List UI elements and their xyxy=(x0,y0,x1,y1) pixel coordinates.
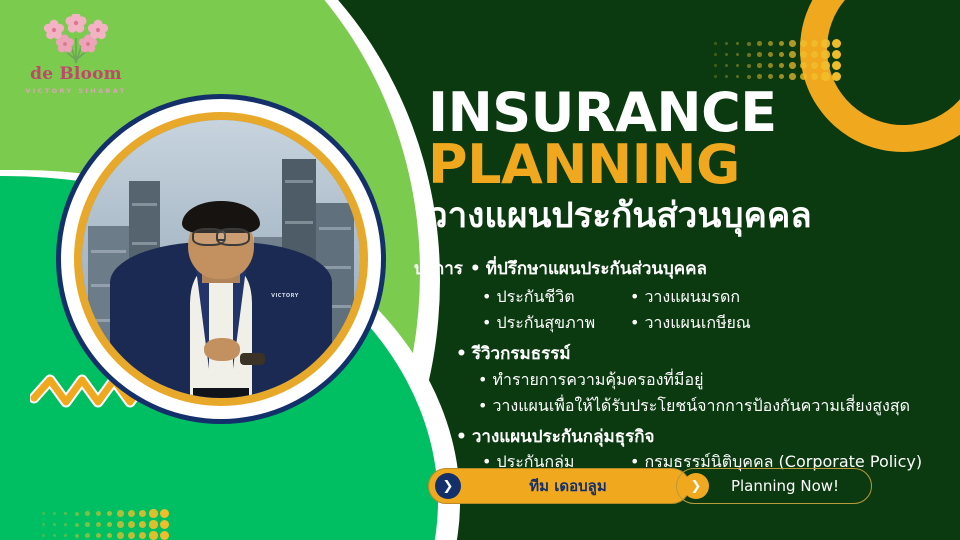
service-sub-retirement-label: วางแผนเกษียณ xyxy=(644,313,750,332)
brand-name: de Bloom xyxy=(18,66,134,84)
advisor-portrait: VICTORY xyxy=(56,94,386,424)
halftone-dot xyxy=(160,520,169,529)
halftone-dot xyxy=(107,533,113,539)
service-group-2-heading: •รีวิวกรมธรรม์ xyxy=(408,340,960,367)
service-subrow-2: •ประกันสุขภาพ •วางแผนเกษียณ xyxy=(408,311,960,336)
planning-now-label: Planning Now! xyxy=(709,477,871,495)
service-sub-life-label: ประกันชีวิต xyxy=(496,287,574,306)
halftone-dot xyxy=(42,523,44,525)
bullet-dot-icon: • xyxy=(456,344,467,364)
service-lead-label: บริการ xyxy=(408,255,463,282)
halftone-dot xyxy=(64,512,67,515)
bullet-dot-icon: • xyxy=(478,370,487,389)
team-de-bloom-label: ทีม เดอบลูม xyxy=(461,474,689,498)
halftone-dot xyxy=(149,520,157,528)
halftone-dot xyxy=(53,534,56,537)
advisor-figure: VICTORY xyxy=(82,192,360,398)
halftone-dot xyxy=(42,534,44,536)
service-group-2-label: รีวิวกรมธรรม์ xyxy=(472,344,571,364)
suit-badge-text: VICTORY xyxy=(271,293,299,299)
chevron-right-icon: ❯ xyxy=(435,473,461,499)
halftone-dot xyxy=(117,532,124,539)
halftone-dot xyxy=(53,512,56,515)
planning-now-button[interactable]: ❯ Planning Now! xyxy=(676,468,872,504)
service-sub-health-label: ประกันสุขภาพ xyxy=(496,313,595,332)
bullet-dot-icon: • xyxy=(482,287,491,306)
halftone-dot xyxy=(96,533,101,538)
service-group-2-item-1-label: ทำรายการความคุ้มครองที่มีอยู่ xyxy=(492,370,703,389)
service-lead-item: •ที่ปรึกษาแผนประกันส่วนบุคคล xyxy=(470,255,707,282)
halftone-dot-grid-bottom xyxy=(38,508,170,540)
service-sub-life: •ประกันชีวิต xyxy=(408,285,630,310)
cta-group: ❯ ทีม เดอบลูม ❯ Planning Now! xyxy=(428,468,872,504)
halftone-dot xyxy=(117,510,124,517)
halftone-dot xyxy=(160,509,169,518)
halftone-dot xyxy=(64,523,67,526)
halftone-dot xyxy=(85,511,90,516)
service-sub-retirement: •วางแผนเกษียณ xyxy=(630,311,751,336)
brand-logo: de Bloom VICTORY SIHARAT xyxy=(18,14,134,95)
service-group-2-item-1: •ทำรายการความคุ้มครองที่มีอยู่ xyxy=(408,368,960,393)
service-group-3-heading: •วางแผนประกันกลุ่มธุรกิจ xyxy=(408,423,960,450)
halftone-dot xyxy=(107,522,113,528)
service-sub-legacy: •วางแผนมรดก xyxy=(630,285,740,310)
flower-bouquet-icon xyxy=(18,14,134,64)
halftone-dot xyxy=(160,531,169,540)
halftone-dot xyxy=(53,523,56,526)
halftone-dot xyxy=(85,522,90,527)
halftone-dot xyxy=(75,523,79,527)
halftone-dot xyxy=(139,532,147,540)
halftone-dot xyxy=(128,532,135,539)
bullet-dot-icon: • xyxy=(630,313,639,332)
service-group-2-item-2-label: วางแผนเพื่อให้ได้รับประโยชน์จากการป้องกั… xyxy=(492,396,910,415)
headline-line-1: INSURANCE xyxy=(428,88,777,139)
bullet-dot-icon: • xyxy=(478,396,487,415)
headline-line-2: PLANNING xyxy=(428,140,740,191)
halftone-dot xyxy=(75,534,79,538)
service-group-2-item-2: •วางแผนเพื่อให้ได้รับประโยชน์จากการป้องก… xyxy=(408,394,960,419)
bullet-dot-icon: • xyxy=(456,427,467,447)
halftone-dot xyxy=(96,511,101,516)
portrait-photo: VICTORY xyxy=(82,120,360,398)
halftone-dot xyxy=(149,509,157,517)
bullet-dot-icon: • xyxy=(482,313,491,332)
service-sub-health: •ประกันสุขภาพ xyxy=(408,311,630,336)
insurance-planning-poster: de Bloom VICTORY SIHARAT xyxy=(0,0,960,540)
halftone-dot xyxy=(64,534,67,537)
bullet-dot-icon: • xyxy=(470,259,481,279)
service-lead-text: ที่ปรึกษาแผนประกันส่วนบุคคล xyxy=(486,259,707,279)
chevron-right-icon: ❯ xyxy=(683,473,709,499)
halftone-dot xyxy=(139,510,147,518)
service-group-3-label: วางแผนประกันกลุ่มธุรกิจ xyxy=(472,427,655,447)
team-de-bloom-button[interactable]: ❯ ทีม เดอบลูม xyxy=(428,468,690,504)
halftone-dot xyxy=(117,521,124,528)
halftone-dot xyxy=(128,521,135,528)
halftone-dot xyxy=(128,510,135,517)
halftone-dot xyxy=(96,522,101,527)
service-lead-row: บริการ •ที่ปรึกษาแผนประกันส่วนบุคคล xyxy=(408,255,960,282)
halftone-dot xyxy=(107,511,113,517)
halftone-dot xyxy=(75,512,79,516)
service-subrow-1: •ประกันชีวิต •วางแผนมรดก xyxy=(408,285,960,310)
bullet-dot-icon: • xyxy=(630,287,639,306)
content-panel: INSURANCE PLANNING วางแผนประกันส่วนบุคคล… xyxy=(408,0,960,540)
halftone-dot xyxy=(85,533,90,538)
halftone-dot xyxy=(149,531,157,539)
halftone-dot xyxy=(42,512,44,514)
service-sub-legacy-label: วางแผนมรดก xyxy=(644,287,740,306)
headline-line-3-thai: วางแผนประกันส่วนบุคคล xyxy=(428,196,812,236)
halftone-dot xyxy=(139,521,147,529)
services-list: บริการ •ที่ปรึกษาแผนประกันส่วนบุคคล •ประ… xyxy=(408,255,960,476)
